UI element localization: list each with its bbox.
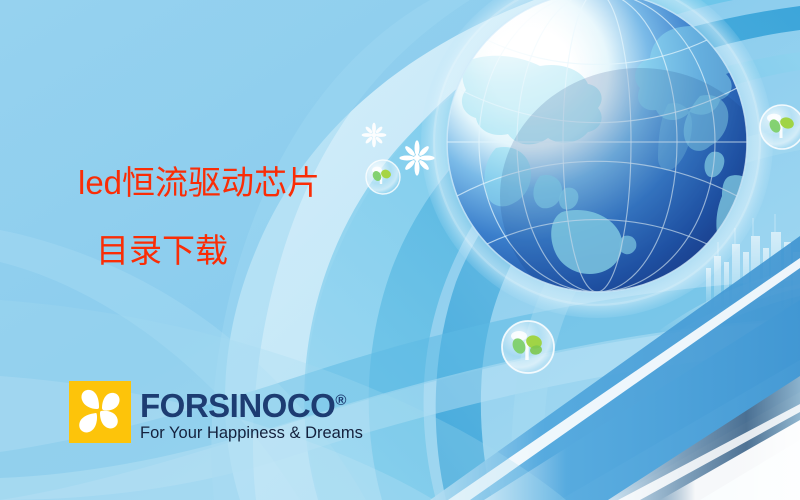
forsinoco-pinwheel-mark-icon <box>69 381 131 443</box>
bubble-sprout-left <box>366 160 400 194</box>
logo-tagline: For Your Happiness & Dreams <box>140 424 363 443</box>
bubble-sprout-right <box>760 105 800 149</box>
bubble-sprout-bottom <box>502 321 554 373</box>
logo-text-lockup: FORSINOCO® For Your Happiness & Dreams <box>140 381 363 443</box>
company-logo: FORSINOCO® For Your Happiness & Dreams <box>69 381 363 443</box>
slide-canvas: led恒流驱动芯片 目录下载 FORSINOCO® For Your Happi… <box>0 0 800 500</box>
registered-trademark-symbol: ® <box>335 392 346 409</box>
logo-wordmark: FORSINOCO® <box>140 384 363 422</box>
logo-wordmark-text: FORSINOCO <box>140 387 335 424</box>
